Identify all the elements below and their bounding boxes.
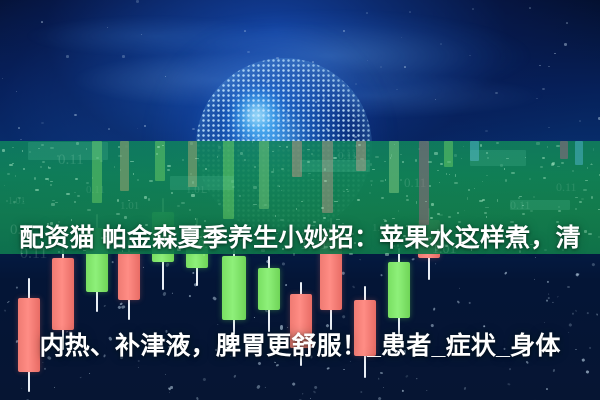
band-pixel: [358, 144, 361, 145]
band-pixel: [355, 145, 357, 147]
headline-line-1: 配资猫 帕金森夏季养生小妙招：苹果水这样煮，清: [0, 220, 600, 256]
band-pixel: [480, 144, 482, 147]
band-pixel: [279, 146, 280, 147]
band-pixel: [41, 144, 43, 146]
band-pixel: [252, 141, 254, 143]
band-pixel: [536, 142, 540, 145]
banner-image: 0.110.21 0.111.010.110.111.011.010.111.1…: [0, 0, 600, 400]
headline-text: 配资猫 帕金森夏季养生小妙招：苹果水这样煮，清 内热、补津液，脾胃更舒服！_患者…: [0, 148, 600, 400]
band-pixel: [463, 146, 464, 147]
band-pixel: [394, 144, 395, 145]
band-pixel: [190, 142, 193, 145]
band-pixel: [76, 142, 79, 145]
band-pixel: [496, 142, 499, 144]
headline-line-2: 内热、补津液，脾胃更舒服！_患者_症状_身体: [0, 328, 600, 364]
band-pixel: [162, 145, 164, 146]
band-pixel: [343, 142, 344, 143]
